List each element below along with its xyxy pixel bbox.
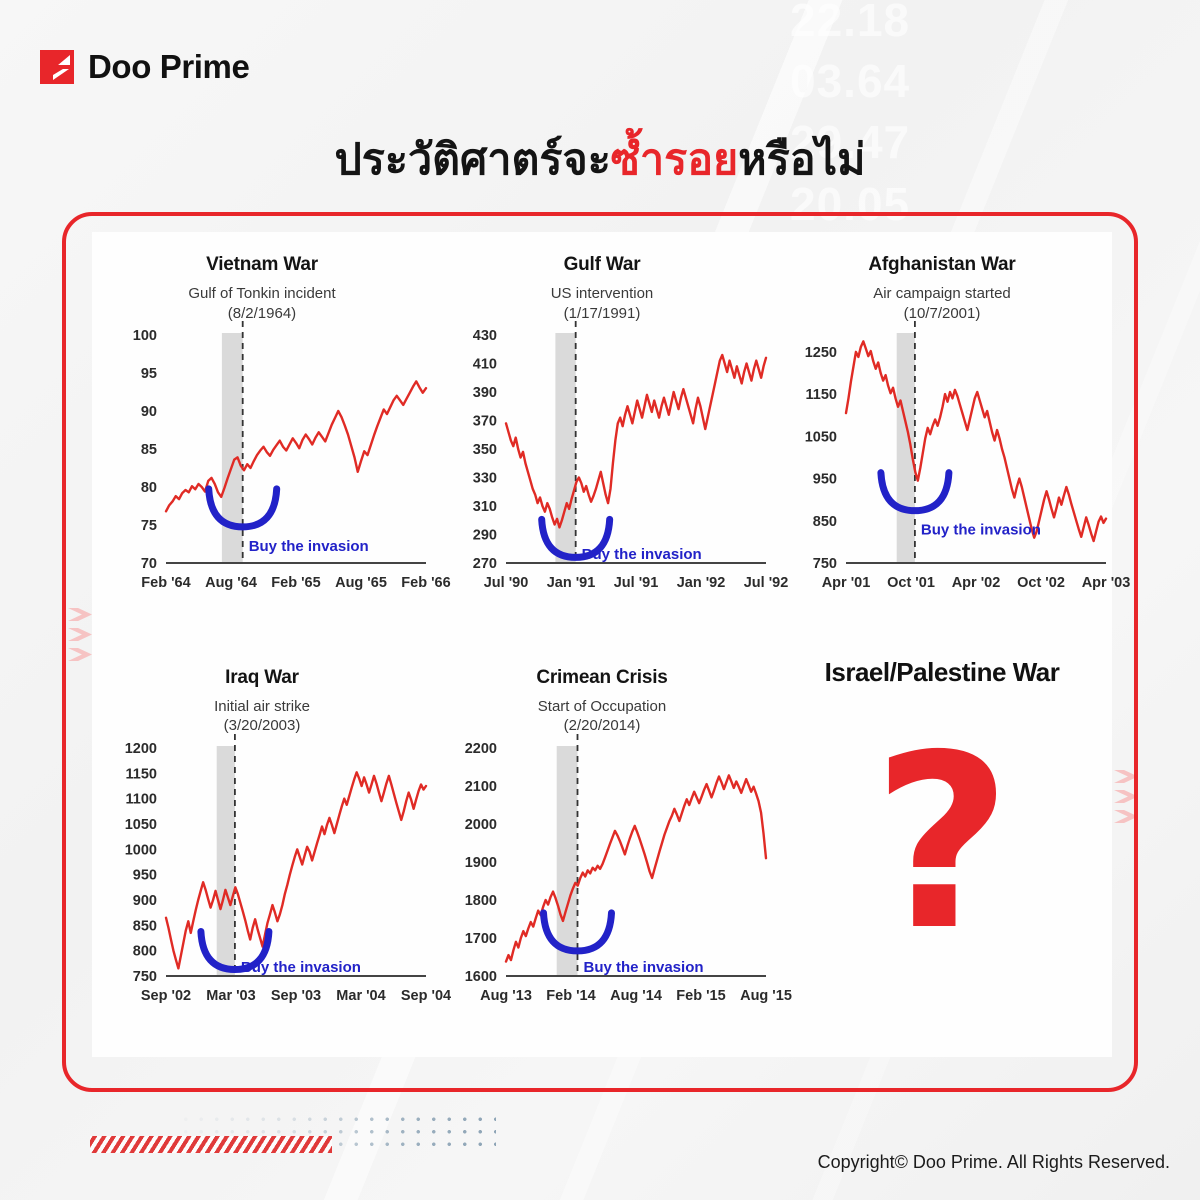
svg-text:750: 750 — [133, 969, 157, 985]
chart-event-label: Air campaign started(10/7/2001) — [772, 284, 1112, 324]
svg-text:900: 900 — [133, 893, 157, 909]
doo-prime-logo-icon — [40, 50, 74, 84]
svg-text:950: 950 — [813, 472, 837, 488]
chevron-decoration-left — [68, 608, 92, 668]
svg-text:1700: 1700 — [465, 931, 497, 947]
svg-text:80: 80 — [141, 480, 157, 496]
svg-text:Buy the invasion: Buy the invasion — [241, 959, 361, 976]
svg-text:Sep '02: Sep '02 — [141, 988, 191, 1004]
chart-event-label: Start of Occupation(2/20/2014) — [432, 697, 772, 737]
svg-text:1250: 1250 — [805, 345, 837, 361]
svg-text:1000: 1000 — [125, 842, 157, 858]
svg-text:Buy the invasion: Buy the invasion — [249, 538, 369, 555]
svg-text:Jul '90: Jul '90 — [484, 575, 529, 591]
chevron-icon — [1114, 790, 1138, 803]
chevron-icon — [68, 648, 92, 661]
svg-text:Aug '14: Aug '14 — [610, 988, 662, 1004]
chart-cell-israel-palestine-war: Israel/Palestine War ? — [772, 645, 1112, 1058]
svg-text:95: 95 — [141, 366, 157, 382]
charts-panel: Vietnam War Gulf of Tonkin incident(8/2/… — [92, 232, 1112, 1057]
chart-cell-gulf-war: Gulf War US intervention(1/17/1991) 2702… — [432, 232, 772, 645]
svg-text:2000: 2000 — [465, 817, 497, 833]
hatch-bar-decoration — [90, 1136, 332, 1153]
svg-text:850: 850 — [133, 918, 157, 934]
question-panel-title: Israel/Palestine War — [772, 657, 1112, 688]
chart-plot-area: 75080085090095010001050110011501200Sep '… — [92, 740, 432, 1040]
svg-text:Buy the invasion: Buy the invasion — [582, 546, 702, 563]
svg-text:1150: 1150 — [806, 387, 837, 403]
svg-text:1600: 1600 — [465, 969, 497, 985]
page-title: ประวัติศาตร์จะซ้ำรอยหรือไม่ — [0, 125, 1200, 193]
chart-title: Iraq War — [92, 667, 432, 689]
chart-plot-area: 1600170018001900200021002200Aug '13Feb '… — [432, 740, 772, 1040]
svg-text:1900: 1900 — [465, 855, 497, 871]
chart-plot-area: 270290310330350370390410430Jul '90Jan '9… — [432, 327, 772, 627]
svg-text:310: 310 — [473, 499, 497, 515]
svg-text:Oct '01: Oct '01 — [887, 575, 935, 591]
svg-text:430: 430 — [473, 328, 497, 344]
svg-text:90: 90 — [141, 404, 157, 420]
svg-text:100: 100 — [133, 328, 157, 344]
page-title-highlight: ซ้ำรอย — [611, 136, 738, 184]
page-title-part-before: ประวัติศาตร์จะ — [334, 136, 610, 184]
brand-header: Doo Prime — [40, 48, 249, 86]
svg-text:750: 750 — [813, 556, 837, 572]
chart-plot-area: 750850950105011501250Apr '01Oct '01Apr '… — [772, 327, 1112, 627]
svg-text:2100: 2100 — [465, 779, 497, 795]
svg-text:Aug '64: Aug '64 — [205, 575, 257, 591]
svg-text:Buy the invasion: Buy the invasion — [921, 522, 1041, 539]
svg-text:Aug '13: Aug '13 — [480, 988, 532, 1004]
chart-event-label: Initial air strike(3/20/2003) — [92, 697, 432, 737]
svg-text:Oct '02: Oct '02 — [1017, 575, 1065, 591]
chevron-icon — [1114, 770, 1138, 783]
chart-event-label: US intervention(1/17/1991) — [432, 284, 772, 324]
svg-text:Aug '65: Aug '65 — [335, 575, 387, 591]
chart-plot-area: 707580859095100Feb '64Aug '64Feb '65Aug … — [92, 327, 432, 627]
svg-text:85: 85 — [141, 442, 157, 458]
svg-text:Apr '02: Apr '02 — [952, 575, 1001, 591]
svg-text:1050: 1050 — [125, 817, 157, 833]
svg-text:Jul '91: Jul '91 — [614, 575, 659, 591]
chart-cell-crimean-crisis: Crimean Crisis Start of Occupation(2/20/… — [432, 645, 772, 1058]
chevron-icon — [1114, 810, 1138, 823]
svg-text:1150: 1150 — [126, 766, 157, 782]
svg-text:Sep '03: Sep '03 — [271, 988, 321, 1004]
chart-cell-afghanistan-war: Afghanistan War Air campaign started(10/… — [772, 232, 1112, 645]
chart-title: Gulf War — [432, 254, 772, 276]
svg-text:Jan '91: Jan '91 — [547, 575, 596, 591]
svg-text:330: 330 — [473, 471, 497, 487]
chart-title: Vietnam War — [92, 254, 432, 276]
svg-text:350: 350 — [473, 442, 497, 458]
svg-text:70: 70 — [141, 556, 157, 572]
chart-title: Afghanistan War — [772, 254, 1112, 276]
svg-text:Apr '03: Apr '03 — [1082, 575, 1131, 591]
svg-text:Feb '14: Feb '14 — [546, 988, 595, 1004]
page-title-part-after: หรือไม่ — [738, 136, 865, 184]
svg-text:410: 410 — [473, 357, 497, 373]
chevron-decoration-right — [1114, 770, 1138, 830]
svg-text:270: 270 — [473, 556, 497, 572]
charts-grid: Vietnam War Gulf of Tonkin incident(8/2/… — [92, 232, 1112, 1057]
chart-cell-vietnam-war: Vietnam War Gulf of Tonkin incident(8/2/… — [92, 232, 432, 645]
chart-cell-iraq-war: Iraq War Initial air strike(3/20/2003) 7… — [92, 645, 432, 1058]
svg-text:390: 390 — [473, 385, 497, 401]
svg-text:800: 800 — [133, 943, 157, 959]
brand-name: Doo Prime — [88, 48, 249, 86]
svg-text:1100: 1100 — [126, 791, 157, 807]
svg-text:Mar '03: Mar '03 — [206, 988, 255, 1004]
svg-text:Feb '15: Feb '15 — [676, 988, 725, 1004]
svg-text:Feb '64: Feb '64 — [141, 575, 190, 591]
svg-text:1200: 1200 — [125, 741, 157, 757]
svg-text:950: 950 — [133, 867, 157, 883]
svg-text:370: 370 — [473, 414, 497, 430]
question-mark-symbol: ? — [772, 723, 1112, 963]
svg-text:Feb '65: Feb '65 — [271, 575, 320, 591]
svg-text:Apr '01: Apr '01 — [822, 575, 871, 591]
svg-text:Jan '92: Jan '92 — [677, 575, 726, 591]
svg-text:75: 75 — [141, 518, 157, 534]
chevron-icon — [68, 608, 92, 621]
chevron-icon — [68, 628, 92, 641]
chart-title: Crimean Crisis — [432, 667, 772, 689]
svg-text:290: 290 — [473, 528, 497, 544]
svg-text:2200: 2200 — [465, 741, 497, 757]
svg-text:Mar '04: Mar '04 — [336, 988, 385, 1004]
copyright-text: Copyright© Doo Prime. All Rights Reserve… — [818, 1152, 1170, 1173]
svg-text:850: 850 — [813, 514, 837, 530]
chart-event-label: Gulf of Tonkin incident(8/2/1964) — [92, 284, 432, 324]
svg-text:1050: 1050 — [805, 429, 837, 445]
svg-text:Buy the invasion: Buy the invasion — [584, 959, 704, 976]
svg-text:1800: 1800 — [465, 893, 497, 909]
